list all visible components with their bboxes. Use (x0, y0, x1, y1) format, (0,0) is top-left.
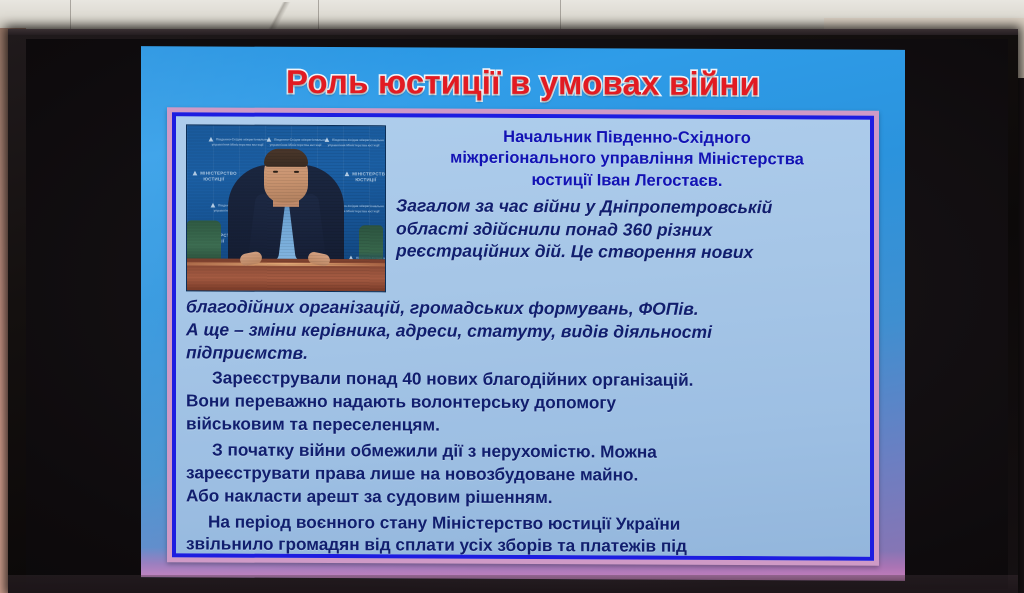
tv-screen: Роль юстиції в умовах війни ▲МІНІСТЕРСТВ… (26, 39, 1008, 589)
backdrop-logo-icon: ▲МІНІСТЕРСТВОЮСТИЦІЇ (343, 170, 386, 183)
chair-left (187, 220, 221, 262)
room-scene: Роль юстиції в умовах війни ▲МІНІСТЕРСТВ… (0, 0, 1024, 593)
slide-content-body: ▲МІНІСТЕРСТВОЮСТИЦІЇ ▲МІНІСТЕРСТВОЮСТИЦІ… (176, 116, 870, 556)
slide-content-frame: ▲МІНІСТЕРСТВОЮСТИЦІЇ ▲МІНІСТЕРСТВОЮСТИЦІ… (167, 107, 879, 565)
trident-icon: ▲ (191, 169, 199, 177)
backdrop-logo-icon: ▲Південно-Східне міжрегіональнеуправлінн… (207, 135, 268, 147)
paragraph-line: час надання будь-яких адмінпослуг. (186, 556, 862, 561)
paragraph-charity-organizations: Зареєстрували понад 40 нових благодійних… (186, 364, 862, 439)
backdrop-watermark-text: управління Міністерства юстиції (212, 142, 264, 146)
paragraph-line: благодійних організацій, громадських фор… (186, 295, 862, 321)
paragraph-line: військовим та переселенцям. (186, 412, 862, 438)
backdrop-watermark-text: МІНІСТЕРСТВО (200, 171, 237, 176)
speaker-eye-left (273, 170, 278, 173)
speaker-hair (264, 149, 308, 167)
paragraph-line: З початку війни обмежили дії з нерухоміс… (186, 438, 862, 464)
backdrop-logo-icon: ▲Південно-Східне міжрегіональнеуправлінн… (323, 136, 384, 148)
backdrop-watermark-text: Південно-Східне міжрегіональне (332, 138, 384, 142)
paragraph-line: А ще – зміни керівника, адреси, статуту,… (186, 318, 862, 344)
paragraph-line: Вони переважно надають волонтерську допо… (186, 389, 862, 415)
backdrop-logo-icon: ▲МІНІСТЕРСТВОЮСТИЦІЇ (191, 169, 237, 182)
paragraph-real-estate-restrictions: З початку війни обмежили дії з нерухоміс… (186, 435, 862, 510)
backdrop-watermark-text: управління Міністерства юстиції (328, 143, 380, 147)
paragraph-line: На період воєнного стану Міністерство юс… (186, 510, 862, 536)
paragraph-line: звільнило громадян від сплати усіх зборі… (186, 533, 862, 559)
backdrop-watermark-text: Південно-Східне міжрегіональне (274, 138, 326, 142)
paragraph-fee-exemption: На період воєнного стану Міністерство юс… (186, 507, 862, 561)
backdrop-watermark-text: ЮСТИЦІЇ (203, 176, 224, 181)
paragraph-line: підприємств. (186, 341, 862, 367)
backdrop-watermark-text: МІНІСТЕРСТВО (352, 171, 386, 176)
page-title: Роль юстиції в умовах війни (141, 64, 905, 101)
speaker-eye-right (294, 170, 299, 173)
television: Роль юстиції в умовах війни ▲МІНІСТЕРСТВ… (8, 29, 1018, 593)
tv-bezel-bottom (8, 575, 1018, 593)
trident-icon: ▲ (343, 170, 351, 178)
backdrop-watermark-text: Південно-Східне міжрегіональне (216, 137, 268, 141)
paragraph-line: Або накласти арешт за судовим рішенням. (186, 484, 862, 510)
tv-bezel-highlight (8, 29, 1018, 35)
backdrop-watermark-text: управління Міністерства юстиції (270, 143, 322, 147)
backdrop-logo-icon: ▲Південно-Східне міжрегіональнеуправлінн… (265, 136, 326, 148)
presentation-slide: Роль юстиції в умовах війни ▲МІНІСТЕРСТВ… (141, 46, 905, 581)
ceiling-diagonal-line (150, 2, 410, 32)
speaker-photo: ▲МІНІСТЕРСТВОЮСТИЦІЇ ▲МІНІСТЕРСТВОЮСТИЦІ… (186, 124, 386, 292)
paragraph-registrations-continued: благодійних організацій, громадських фор… (186, 293, 862, 367)
slide-content-border: ▲МІНІСТЕРСТВОЮСТИЦІЇ ▲МІНІСТЕРСТВОЮСТИЦІ… (172, 112, 874, 560)
chair-right (359, 225, 383, 263)
backdrop-watermark-text: ЮСТИЦІЇ (355, 177, 376, 182)
paragraph-line: зареєструвати права лише на новозбудован… (186, 461, 862, 487)
paragraph-line: Зареєстрували понад 40 нових благодійних… (186, 367, 862, 393)
